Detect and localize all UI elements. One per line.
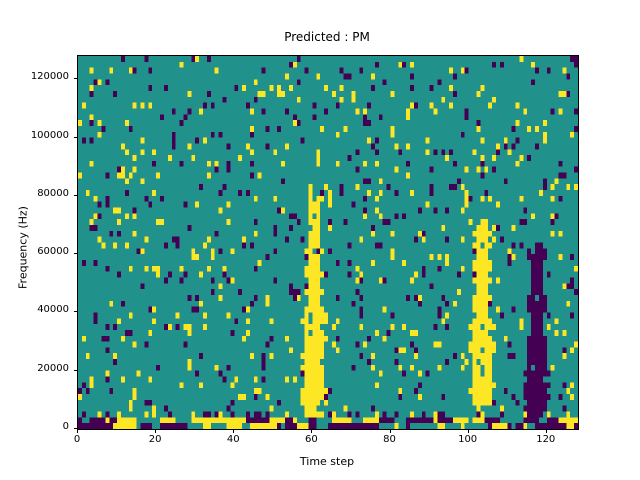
- x-tick-label: 100: [438, 434, 498, 445]
- x-tick-mark: [468, 429, 469, 433]
- x-tick-label: 20: [125, 434, 185, 445]
- y-tick-mark: [74, 370, 78, 371]
- x-tick-label: 120: [516, 434, 576, 445]
- x-tick-mark: [390, 429, 391, 433]
- y-tick-label: 20000: [3, 363, 69, 374]
- y-tick-mark: [74, 311, 78, 312]
- y-tick-label: 40000: [3, 304, 69, 315]
- y-tick-label: 120000: [3, 71, 69, 82]
- x-tick-label: 80: [360, 434, 420, 445]
- x-tick-label: 60: [281, 434, 341, 445]
- x-tick-mark: [546, 429, 547, 433]
- x-tick-mark: [233, 429, 234, 433]
- heatmap-plot-area: [77, 55, 579, 430]
- y-tick-label: 80000: [3, 188, 69, 199]
- x-tick-mark: [155, 429, 156, 433]
- x-tick-label: 40: [203, 434, 263, 445]
- x-axis-label: Time step: [77, 455, 577, 468]
- y-axis-label: Frequency (Hz): [17, 178, 30, 318]
- heatmap-image: [78, 56, 578, 429]
- figure-canvas: Predicted : PM 0200004000060000800001000…: [0, 0, 640, 480]
- y-tick-label: 60000: [3, 246, 69, 257]
- x-tick-mark: [77, 429, 78, 433]
- y-tick-mark: [74, 78, 78, 79]
- x-tick-label: 0: [47, 434, 107, 445]
- page-title: Predicted : PM: [77, 30, 577, 44]
- y-tick-label: 100000: [3, 130, 69, 141]
- x-tick-mark: [311, 429, 312, 433]
- y-tick-mark: [74, 195, 78, 196]
- y-tick-label: 0: [3, 421, 69, 432]
- y-tick-mark: [74, 137, 78, 138]
- y-tick-mark: [74, 253, 78, 254]
